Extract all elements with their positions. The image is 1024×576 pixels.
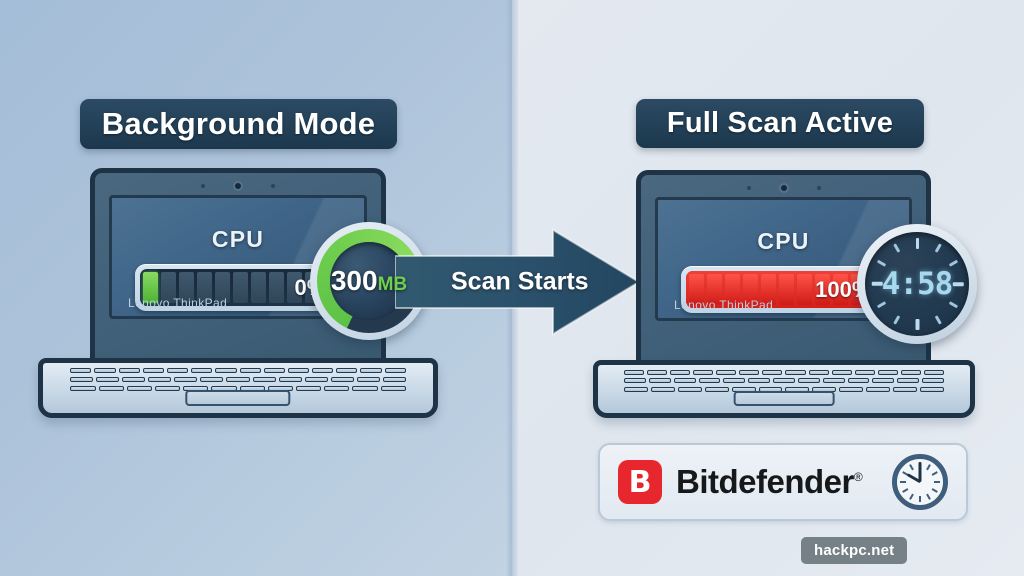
infographic-canvas: Background Mode CPU <box>0 0 1024 576</box>
laptop-brand-left: Lenovo ThinkPad <box>128 296 227 310</box>
webcam-strip-left <box>95 181 381 191</box>
bitdefender-badge: B Bitdefender® <box>598 443 968 521</box>
analog-clock-icon <box>892 454 948 510</box>
bitdefender-brand-text: Bitdefender <box>676 463 854 500</box>
laptop-brand-right: Lenovo ThinkPad <box>674 298 773 312</box>
scan-timer-readout: 4:58 <box>865 232 969 336</box>
memory-gauge-value: 300 <box>331 265 378 296</box>
arrow-label: Scan Starts <box>451 268 589 297</box>
left-panel-title: Background Mode <box>80 99 397 149</box>
trackpad-right <box>734 391 835 407</box>
registered-mark: ® <box>854 470 862 484</box>
sensor-dot-right-icon <box>271 184 275 188</box>
laptop-base-left <box>38 358 438 418</box>
bitdefender-wordmark: Bitdefender® <box>676 463 862 501</box>
keyboard-left <box>70 368 405 391</box>
right-panel-title: Full Scan Active <box>636 99 924 148</box>
watermark: hackpc.net <box>801 537 907 564</box>
bitdefender-logo-icon: B <box>618 460 662 504</box>
clock-minute-hand <box>919 462 922 482</box>
memory-gauge-unit: MB <box>378 274 408 295</box>
sensor-dot-left-icon <box>201 184 205 188</box>
trackpad-left <box>185 390 290 406</box>
scan-timer-clock: 4:58 <box>857 224 977 344</box>
scan-timer-face: 4:58 <box>865 232 969 336</box>
webcam-strip-right <box>641 183 926 193</box>
keyboard-right <box>624 370 944 392</box>
memory-gauge-readout: 300MB <box>331 265 407 297</box>
sensor-dot-right-icon <box>817 186 821 190</box>
webcam-icon <box>779 183 789 193</box>
sensor-dot-left-icon <box>747 186 751 190</box>
webcam-icon <box>233 181 243 191</box>
laptop-base-right <box>593 360 975 418</box>
